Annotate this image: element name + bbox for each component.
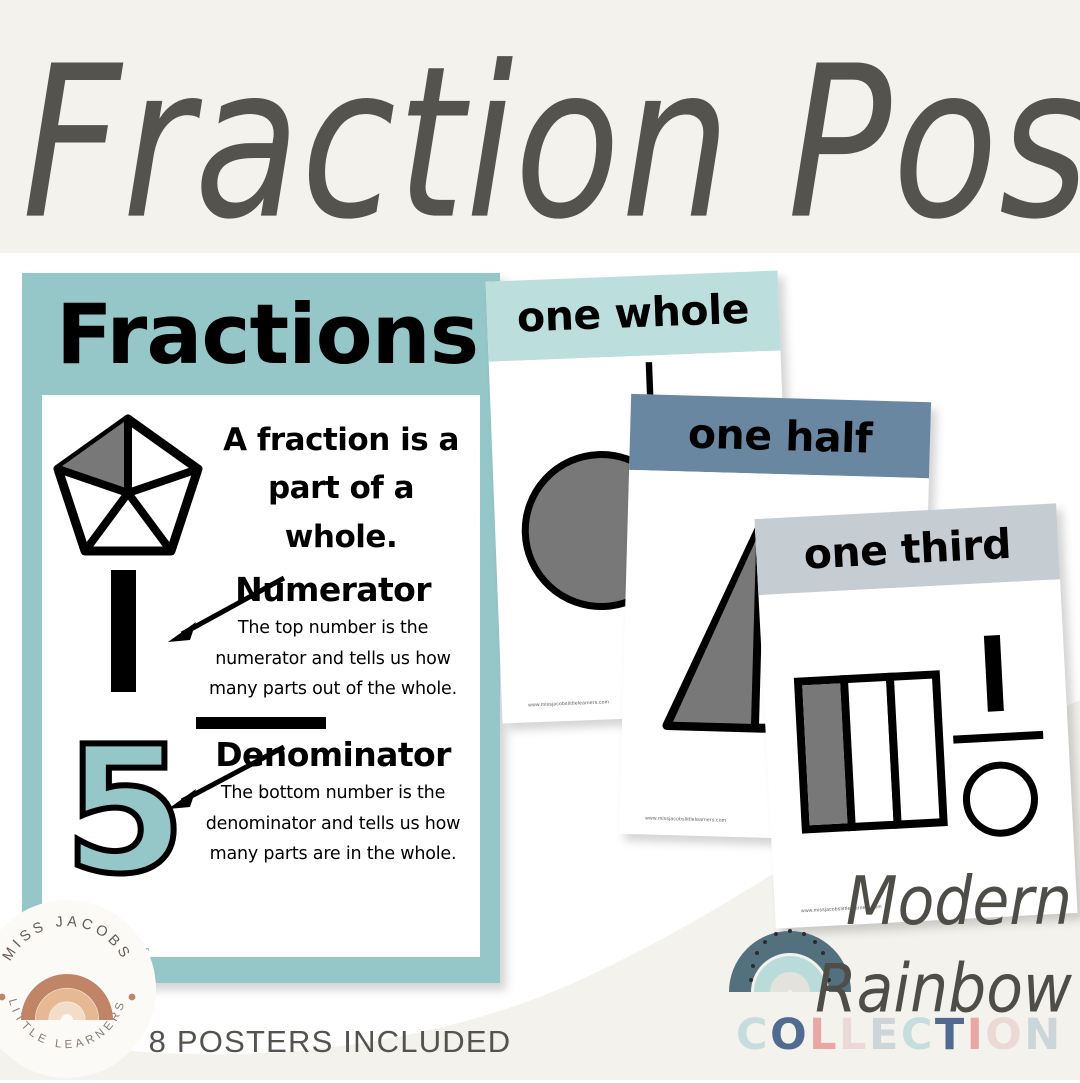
collection-letter-7: I (967, 1010, 986, 1060)
poster-content-sheet: A fraction is a part of a whole. Numerat… (42, 395, 480, 957)
one-half-title: one half (629, 394, 931, 478)
modern-rainbow-collection-brand: Modern Rainbow COLLECTION (710, 862, 1080, 1080)
poster-title-fractions: Fractions (22, 273, 500, 395)
svg-text:MISS JACOBS: MISS JACOBS (0, 914, 134, 964)
collection-letter-9: N (1024, 1010, 1063, 1060)
collection-letter-3: L (839, 1010, 869, 1060)
fraction-divider-bar (196, 717, 326, 729)
collection-letter-4: E (869, 1010, 901, 1060)
logo-rainbow-icon (28, 981, 106, 1020)
one-whole-title: one whole (486, 271, 781, 362)
numerator-glyph (48, 570, 198, 692)
brand-script-text: Modern Rainbow (772, 858, 1072, 1033)
denominator-block: 5 Denominator The bottom number is the d… (42, 735, 480, 889)
definition-row: A fraction is a part of a whole. (42, 395, 480, 570)
denominator-label: Denominator (198, 735, 468, 774)
numerator-block: Numerator The top number is the numerato… (42, 570, 480, 705)
collection-letter-2: L (809, 1010, 839, 1060)
logo-top-text: MISS JACOBS (0, 914, 134, 964)
collection-word: COLLECTION (736, 1010, 1063, 1060)
numerator-label: Numerator (198, 570, 468, 609)
collection-letter-0: C (736, 1010, 770, 1060)
collection-letter-1: O (770, 1010, 809, 1060)
fraction-definition-text: A fraction is a part of a whole. (216, 416, 466, 560)
pentagon-fraction-icon (50, 411, 210, 566)
collection-letter-6: T (935, 1010, 967, 1060)
denominator-description: The bottom number is the denominator and… (198, 778, 468, 870)
fractions-overview-poster[interactable]: Fractions (22, 273, 500, 983)
posters-included-caption: 8 POSTERS INCLUDED (0, 1024, 660, 1060)
brand-script-line-1: Modern (772, 858, 1072, 945)
page-title: Fraction Posters (22, 8, 1050, 279)
collection-letter-5: C (901, 1010, 935, 1060)
denominator-glyph: 5 (48, 735, 198, 889)
numerator-description: The top number is the numerator and tell… (198, 613, 468, 705)
title-banner: Fraction Posters (0, 0, 1080, 253)
collection-letter-8: O (985, 1010, 1024, 1060)
